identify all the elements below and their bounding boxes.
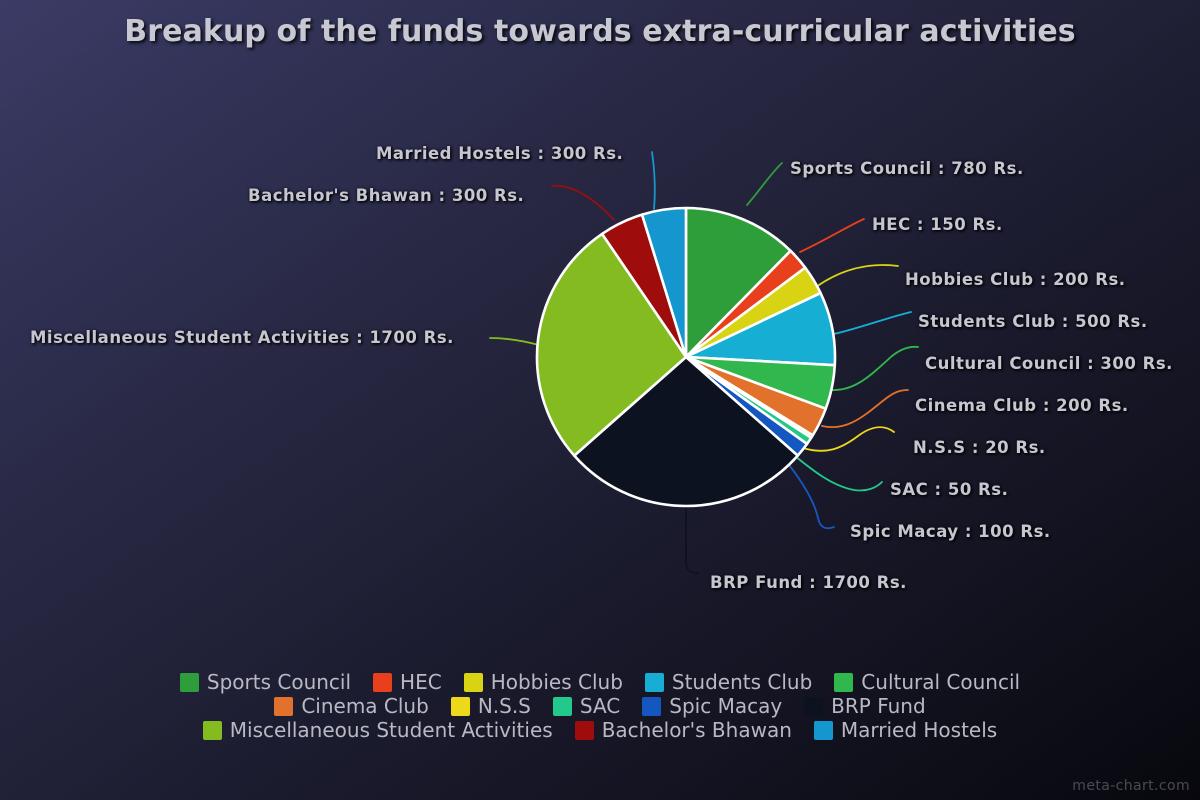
legend-label: Married Hostels <box>841 720 997 740</box>
legend-label: Miscellaneous Student Activities <box>230 720 553 740</box>
legend-item-brp-fund[interactable]: BRP Fund <box>804 696 926 716</box>
legend-label: HEC <box>400 672 442 692</box>
legend-item-hobbies-club[interactable]: Hobbies Club <box>464 672 623 692</box>
legend-swatch-icon <box>814 721 833 740</box>
leader-line <box>822 390 908 427</box>
legend-label: Sports Council <box>207 672 351 692</box>
legend-item-spic-macay[interactable]: Spic Macay <box>642 696 782 716</box>
legend-swatch-icon <box>834 673 853 692</box>
leader-line <box>686 506 698 573</box>
slice-callout-label: N.S.S : 20 Rs. <box>913 438 1046 457</box>
leader-line <box>552 186 614 220</box>
legend-label: Bachelor's Bhawan <box>602 720 792 740</box>
slice-callout-label: BRP Fund : 1700 Rs. <box>710 573 907 592</box>
legend-swatch-icon <box>451 697 470 716</box>
leader-line <box>747 163 782 205</box>
legend-swatch-icon <box>274 697 293 716</box>
legend-swatch-icon <box>645 673 664 692</box>
slice-callout-label: Miscellaneous Student Activities : 1700 … <box>30 328 454 347</box>
legend-swatch-icon <box>373 673 392 692</box>
slice-callout-label: Cultural Council : 300 Rs. <box>925 354 1173 373</box>
legend-row: Miscellaneous Student ActivitiesBachelor… <box>203 720 997 740</box>
legend-item-bachelor-s-bhawan[interactable]: Bachelor's Bhawan <box>575 720 792 740</box>
legend-label: Cultural Council <box>861 672 1020 692</box>
legend-item-students-club[interactable]: Students Club <box>645 672 812 692</box>
legend-item-sac[interactable]: SAC <box>553 696 620 716</box>
legend-item-miscellaneous-student-activities[interactable]: Miscellaneous Student Activities <box>203 720 553 740</box>
legend-label: Cinema Club <box>301 696 429 716</box>
legend-label: SAC <box>580 696 620 716</box>
legend-label: Spic Macay <box>669 696 782 716</box>
leader-line <box>490 338 539 345</box>
legend-swatch-icon <box>553 697 572 716</box>
legend-item-cinema-club[interactable]: Cinema Club <box>274 696 429 716</box>
legend-item-sports-council[interactable]: Sports Council <box>180 672 351 692</box>
legend-label: BRP Fund <box>831 696 926 716</box>
slice-callout-label: SAC : 50 Rs. <box>890 480 1008 499</box>
pie-chart-page: Breakup of the funds towards extra-curri… <box>0 0 1200 800</box>
slice-callout-label: HEC : 150 Rs. <box>872 215 1003 234</box>
leader-line <box>834 312 911 334</box>
slice-callout-label: Married Hostels : 300 Rs. <box>376 144 623 163</box>
legend-label: Students Club <box>672 672 812 692</box>
leader-line <box>800 219 864 252</box>
slice-callout-label: Bachelor's Bhawan : 300 Rs. <box>248 186 524 205</box>
legend-label: N.S.S <box>478 696 531 716</box>
legend-swatch-icon <box>804 697 823 716</box>
watermark: meta-chart.com <box>1072 778 1190 794</box>
leader-line <box>816 265 898 287</box>
leader-line <box>652 152 655 209</box>
leader-line <box>830 347 918 390</box>
legend-swatch-icon <box>464 673 483 692</box>
legend-swatch-icon <box>575 721 594 740</box>
chart-legend: Sports CouncilHECHobbies ClubStudents Cl… <box>0 672 1200 740</box>
legend-item-cultural-council[interactable]: Cultural Council <box>834 672 1020 692</box>
legend-swatch-icon <box>203 721 222 740</box>
pie-slices-group <box>537 208 835 506</box>
slice-callout-label: Sports Council : 780 Rs. <box>790 159 1024 178</box>
legend-item-married-hostels[interactable]: Married Hostels <box>814 720 997 740</box>
slice-callout-label: Students Club : 500 Rs. <box>918 312 1148 331</box>
slice-callout-label: Hobbies Club : 200 Rs. <box>905 270 1126 289</box>
slice-callout-label: Cinema Club : 200 Rs. <box>915 396 1129 415</box>
legend-row: Cinema ClubN.S.SSACSpic MacayBRP Fund <box>274 696 925 716</box>
legend-swatch-icon <box>180 673 199 692</box>
legend-label: Hobbies Club <box>491 672 623 692</box>
legend-row: Sports CouncilHECHobbies ClubStudents Cl… <box>180 672 1020 692</box>
legend-item-n-s-s[interactable]: N.S.S <box>451 696 531 716</box>
legend-swatch-icon <box>642 697 661 716</box>
slice-callout-label: Spic Macay : 100 Rs. <box>850 522 1051 541</box>
legend-item-hec[interactable]: HEC <box>373 672 442 692</box>
